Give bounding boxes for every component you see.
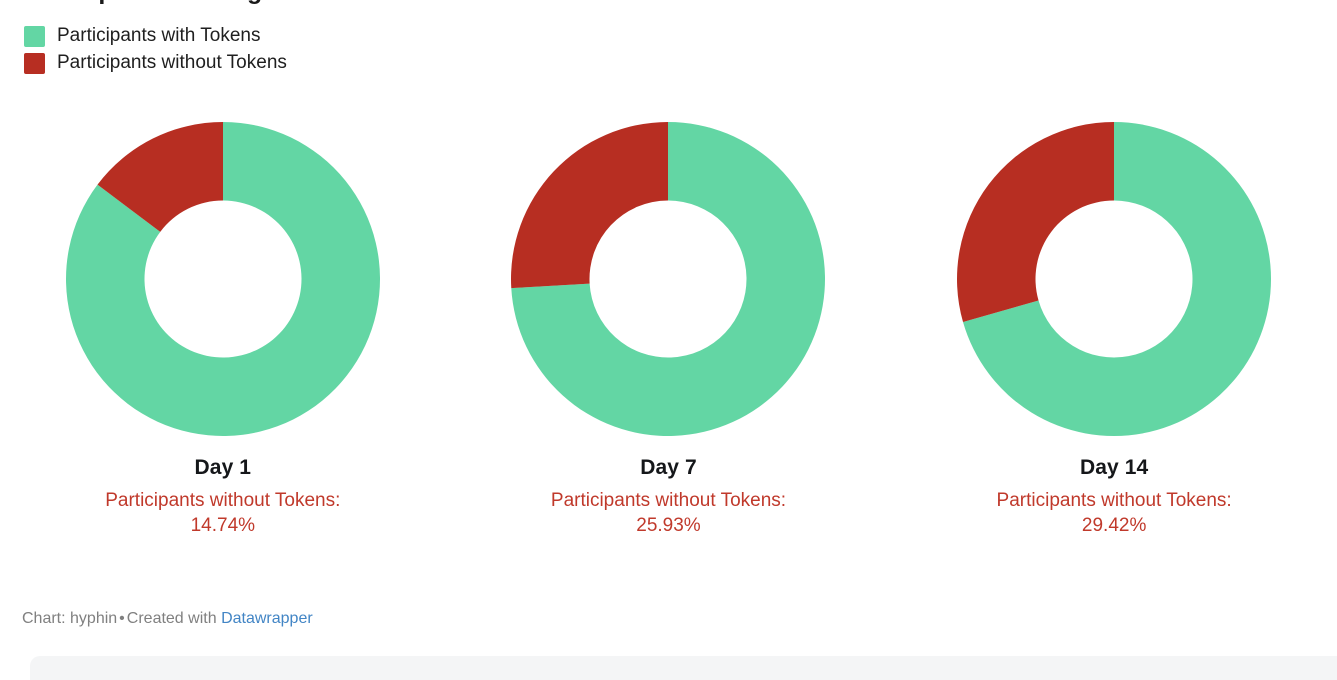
donut-graphic-day-1[interactable] <box>64 120 382 438</box>
donut-graphic-day-7[interactable] <box>509 120 827 438</box>
legend-swatch-green <box>24 26 45 47</box>
caption-value: 25.93% <box>551 513 786 538</box>
caption-value: 14.74% <box>105 513 340 538</box>
caption-label: Participants without Tokens: <box>551 490 786 511</box>
slice-without-tokens[interactable] <box>957 122 1114 322</box>
legend-item-with-tokens[interactable]: Participants with Tokens <box>24 24 287 48</box>
legend-label-without-tokens: Participants without Tokens <box>57 52 287 74</box>
footer-chart-credit: Chart: hyphin <box>22 610 117 627</box>
bottom-panel <box>30 656 1337 680</box>
donut-caption: Participants without Tokens: 29.42% <box>997 488 1232 538</box>
legend-swatch-red <box>24 53 45 74</box>
donut-chart-day-1: Day 1 Participants without Tokens: 14.74… <box>8 120 438 538</box>
donut-chart-row: Day 1 Participants without Tokens: 14.74… <box>0 120 1337 538</box>
donut-chart-day-14: Day 14 Participants without Tokens: 29.4… <box>899 120 1329 538</box>
datawrapper-link[interactable]: Datawrapper <box>221 610 313 627</box>
donut-caption: Participants without Tokens: 14.74% <box>105 488 340 538</box>
donut-svg-day-1 <box>64 120 382 438</box>
donut-day-label: Day 1 <box>195 456 252 480</box>
footer-created-with: Created with <box>127 610 217 627</box>
donut-day-label: Day 14 <box>1080 456 1148 480</box>
caption-label: Participants without Tokens: <box>105 490 340 511</box>
caption-value: 29.42% <box>997 513 1232 538</box>
donut-svg-day-7 <box>509 120 827 438</box>
legend-label-with-tokens: Participants with Tokens <box>57 25 260 47</box>
legend: Participants with Tokens Participants wi… <box>24 24 287 75</box>
slice-without-tokens[interactable] <box>511 122 668 288</box>
donut-caption: Participants without Tokens: 25.93% <box>551 488 786 538</box>
caption-label: Participants without Tokens: <box>997 490 1232 511</box>
footer-credit: Chart: hyphin•Created with Datawrapper <box>22 608 313 630</box>
donut-graphic-day-14[interactable] <box>955 120 1273 438</box>
footer-separator: • <box>117 610 127 627</box>
legend-item-without-tokens[interactable]: Participants without Tokens <box>24 51 287 75</box>
chart-title: Participants holding Tokens <box>0 0 1337 4</box>
donut-chart-day-7: Day 7 Participants without Tokens: 25.93… <box>453 120 883 538</box>
donut-day-label: Day 7 <box>640 456 697 480</box>
donut-svg-day-14 <box>955 120 1273 438</box>
